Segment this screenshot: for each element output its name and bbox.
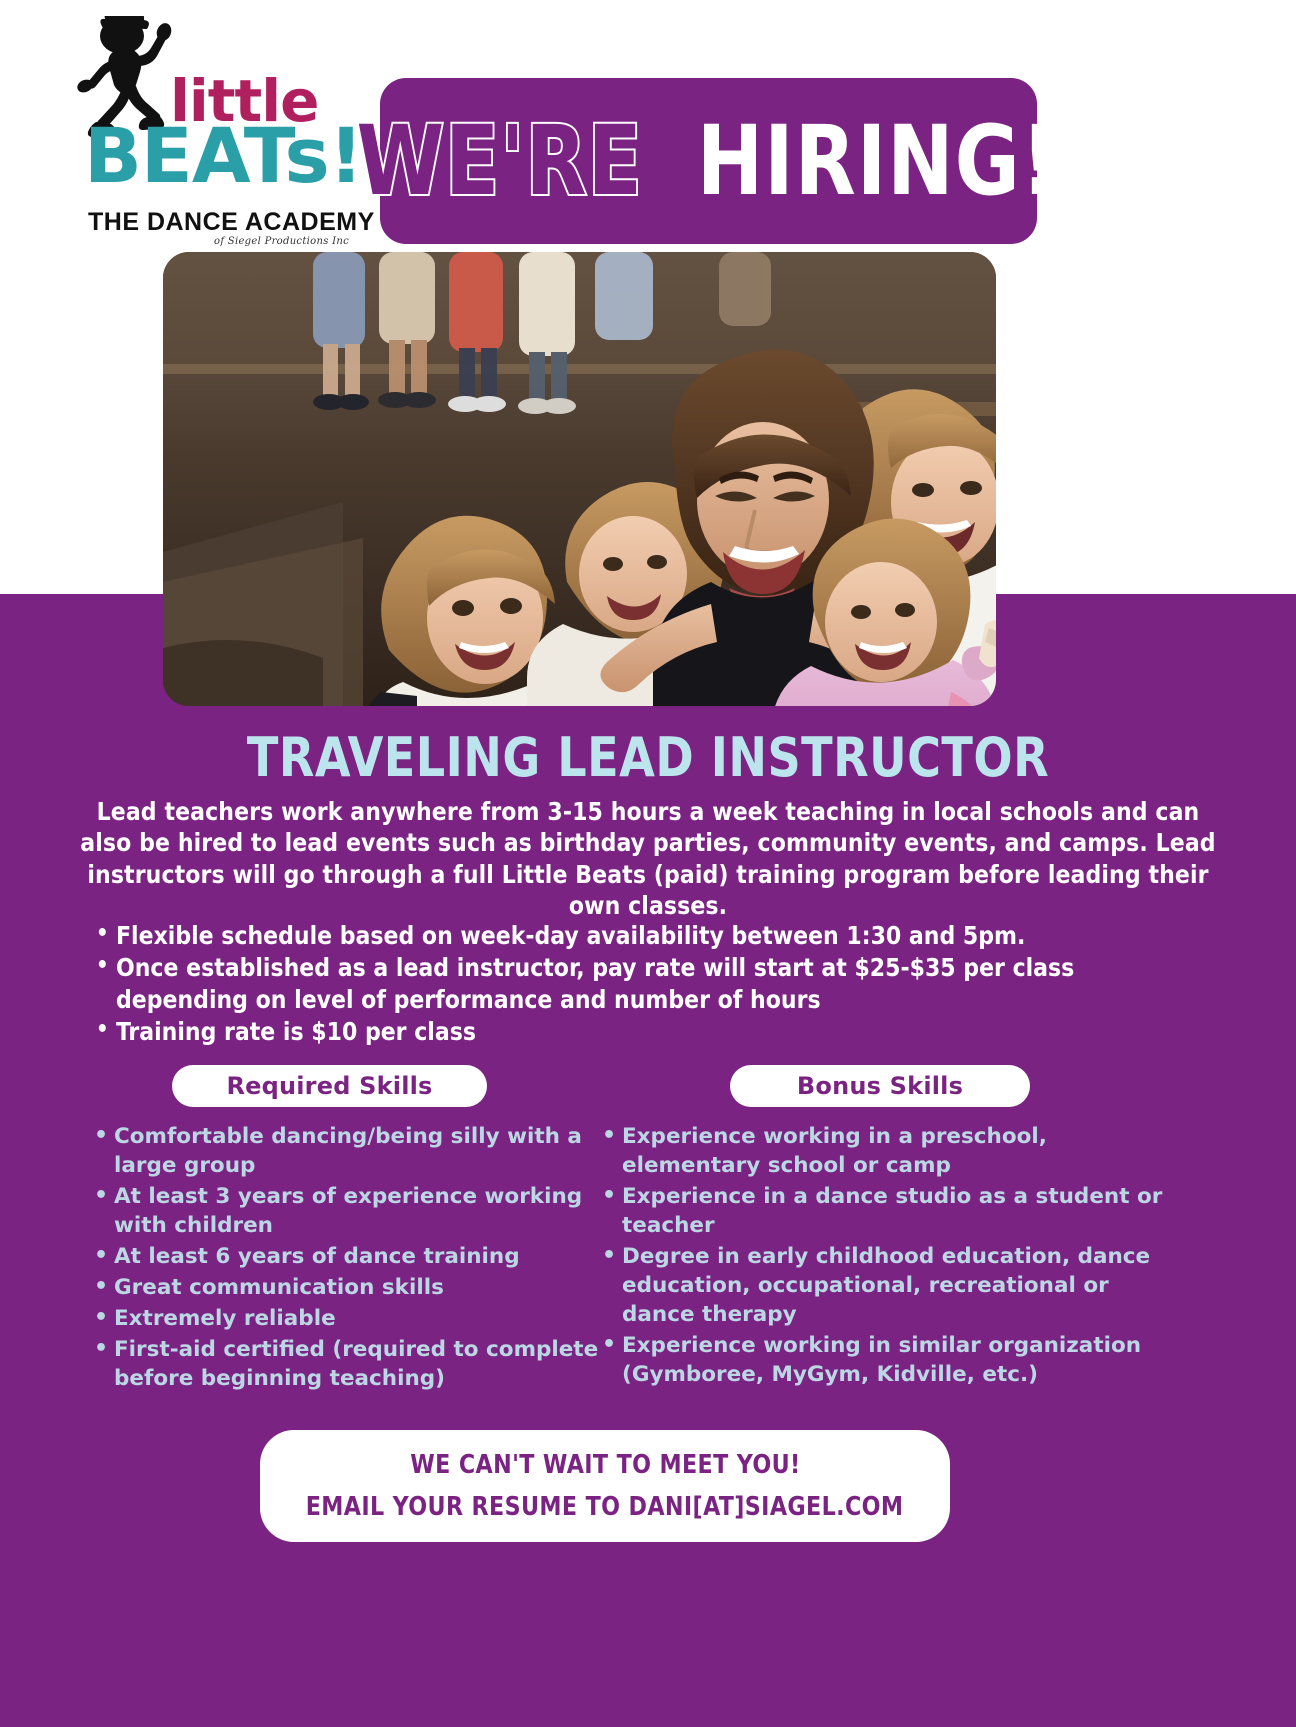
job-intro-paragraph: Lead teachers work anywhere from 3-15 ho… (76, 796, 1220, 921)
banner-word-were: WE'RE (356, 113, 642, 209)
banner-word-hiring: HIRING! (697, 113, 1058, 209)
bonus-skills-list: Experience working in a preschool, eleme… (600, 1122, 1170, 1391)
job-highlights-list: Flexible schedule based on week-day avai… (92, 920, 1212, 1048)
list-item: Extremely reliable (92, 1304, 602, 1333)
instructor-and-children-photo (163, 252, 996, 706)
list-item: Great communication skills (92, 1273, 602, 1302)
list-item: Experience working in similar organizati… (600, 1331, 1170, 1389)
were-hiring-banner: WE'RE HIRING! (380, 78, 1037, 244)
logo-subtitle: THE DANCE ACADEMY (88, 210, 375, 235)
list-item: At least 3 years of experience working w… (92, 1182, 602, 1240)
list-item: Comfortable dancing/being silly with a l… (92, 1122, 602, 1180)
contact-footer-card: WE CAN'T WAIT TO MEET YOU! EMAIL YOUR RE… (260, 1430, 950, 1542)
list-item: Training rate is $10 per class (92, 1016, 1212, 1047)
bonus-skills-heading: Bonus Skills (730, 1065, 1030, 1107)
list-item: Experience working in a preschool, eleme… (600, 1122, 1170, 1180)
footer-email-instruction[interactable]: EMAIL YOUR RESUME TO DANI[AT]SIAGEL.COM (306, 1492, 904, 1522)
list-item: Flexible schedule based on week-day avai… (92, 920, 1212, 951)
logo-tagline: of Siegel Productions Inc (214, 236, 349, 247)
flyer-page: little BEATs! THE DANCE ACADEMY of Siege… (0, 0, 1296, 1727)
logo-word-beats: BEATs! (84, 118, 362, 194)
footer-greeting: WE CAN'T WAIT TO MEET YOU! (410, 1450, 800, 1480)
required-skills-list: Comfortable dancing/being silly with a l… (92, 1122, 602, 1395)
list-item: Experience in a dance studio as a studen… (600, 1182, 1170, 1240)
list-item: First-aid certified (required to complet… (92, 1335, 602, 1393)
required-skills-heading: Required Skills (172, 1065, 487, 1107)
list-item: Once established as a lead instructor, p… (92, 952, 1212, 1015)
little-beats-logo: little BEATs! THE DANCE ACADEMY of Siege… (62, 14, 362, 246)
page-title: TRAVELING LEAD INSTRUCTOR (32, 726, 1263, 789)
list-item: At least 6 years of dance training (92, 1242, 602, 1271)
list-item: Degree in early childhood education, dan… (600, 1242, 1170, 1329)
